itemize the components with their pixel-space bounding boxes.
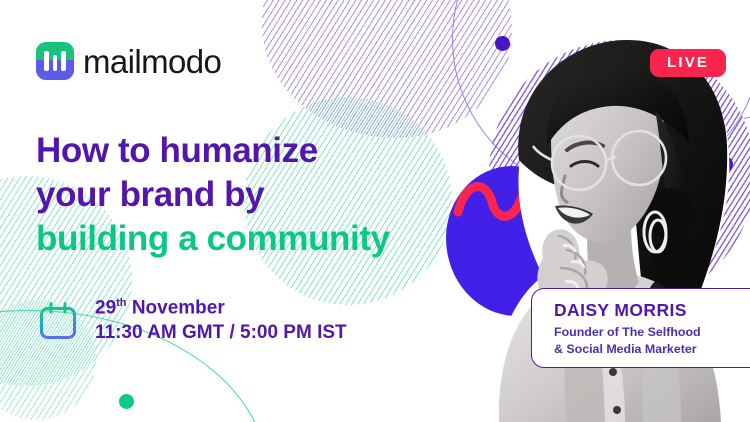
- schedule-block: 29th November 11:30 AM GMT / 5:00 PM IST: [36, 296, 347, 346]
- schedule-text: 29th November 11:30 AM GMT / 5:00 PM IST: [95, 296, 347, 346]
- speaker-role-line-1: Founder of The Selfhood: [554, 324, 750, 341]
- speaker-role-line-2: & Social Media Marketer: [554, 341, 750, 358]
- headline-line-1: How to humanize: [36, 129, 456, 173]
- schedule-date: 29th November: [95, 296, 347, 321]
- mailmodo-bars-logo-icon: [36, 42, 74, 80]
- calendar-icon: [36, 299, 80, 343]
- decor-green-dot: [119, 394, 134, 409]
- page-title: How to humanize your brand by building a…: [36, 129, 456, 261]
- brand-logo: mailmodo: [36, 42, 221, 80]
- speaker-name: DAISY MORRIS: [554, 300, 750, 321]
- status-badge: LIVE: [650, 49, 726, 77]
- schedule-month: November: [132, 297, 225, 318]
- headline-line-2: your brand by: [36, 173, 456, 217]
- speaker-role: Founder of The Selfhood & Social Media M…: [554, 324, 750, 357]
- headline-line-3: building a community: [36, 217, 456, 261]
- schedule-time: 11:30 AM GMT / 5:00 PM IST: [95, 321, 347, 346]
- webinar-promo-banner: mailmodo How to humanize your brand by b…: [0, 0, 750, 422]
- brand-name: mailmodo: [83, 45, 221, 78]
- schedule-day-suffix: th: [116, 297, 126, 309]
- schedule-day: 29: [95, 297, 116, 318]
- speaker-card: DAISY MORRIS Founder of The Selfhood & S…: [531, 288, 750, 368]
